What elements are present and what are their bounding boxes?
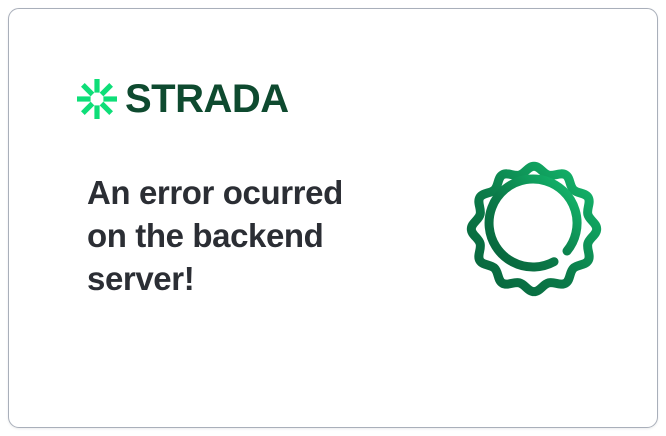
brand-lockup: STRADA — [77, 71, 289, 127]
strada-asterisk-icon — [77, 79, 117, 119]
error-card: STRADA An error ocurred on the backend s… — [8, 8, 658, 428]
gear-illustration — [450, 145, 618, 313]
error-message-text: An error ocurred on the backend server! — [87, 171, 387, 300]
page-root: STRADA An error ocurred on the backend s… — [0, 0, 666, 436]
brand-wordmark: STRADA — [125, 79, 289, 119]
